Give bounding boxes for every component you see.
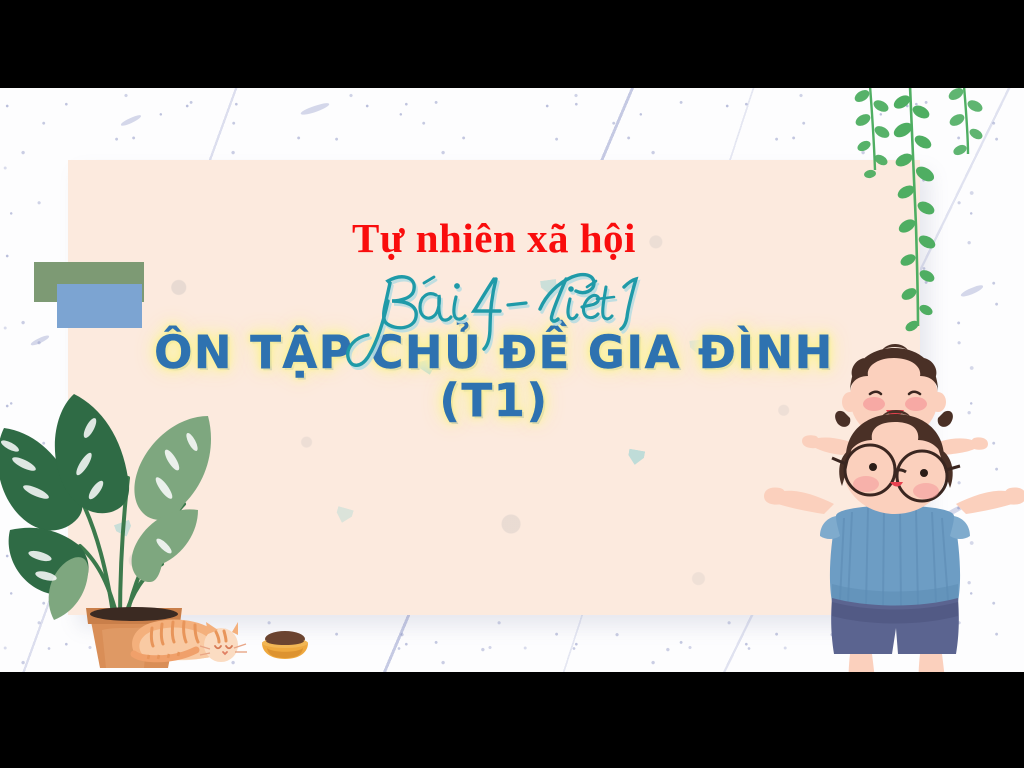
heart-confetti (627, 449, 645, 467)
father-and-child-illustration (770, 336, 1020, 672)
sleeping-cat-icon (118, 608, 258, 666)
letterbox-bar-bottom (0, 672, 1024, 768)
slide-canvas: Tự nhiên xã hội (0, 88, 1024, 672)
letterbox-bar-top (0, 0, 1024, 88)
pet-food-bowl-icon (258, 626, 312, 662)
subject-heading: Tự nhiên xã hội (68, 218, 920, 259)
lesson-script-art (344, 261, 644, 371)
presentation-stage: Tự nhiên xã hội (0, 0, 1024, 768)
lesson-heading (68, 265, 920, 331)
heart-confetti (334, 506, 354, 525)
